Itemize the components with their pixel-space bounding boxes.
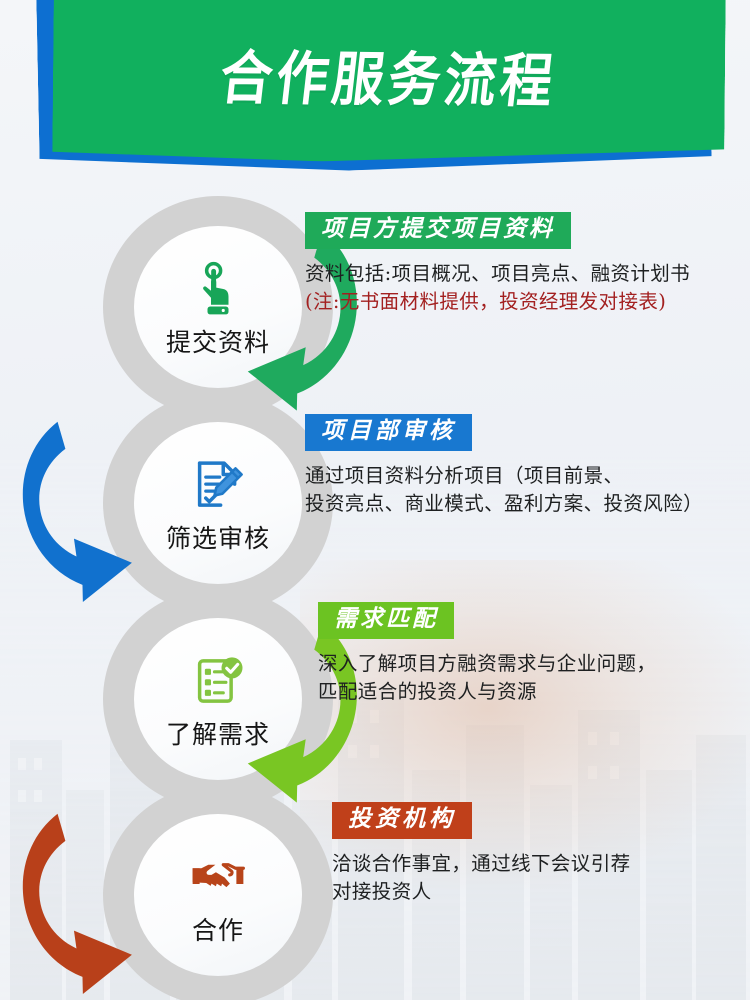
step-note-text: (注:无书面材料提供，投资经理发对接表)	[305, 288, 750, 316]
hand-click-icon	[190, 261, 246, 317]
page-title-text: 合作服务流程	[216, 30, 562, 117]
step-circle-label: 合作	[192, 911, 244, 947]
step-body-text: 通过项目资料分析项目（项目前景、 投资亮点、商业模式、盈利方案、投资风险）	[305, 462, 750, 519]
step-badge: 需求匹配	[318, 602, 454, 639]
process-step-2: 筛选审核 项目部审核 通过项目资料分析项目（项目前景、 投资亮点、商业模式、盈利…	[0, 392, 750, 588]
process-step-4: 合作 投资机构 洽谈合作事宜，通过线下会议引荐 对接投资人	[0, 784, 750, 980]
step-text-block-1: 项目方提交项目资料 资料包括:项目概况、项目亮点、融资计划书 (注:无书面材料提…	[305, 212, 750, 316]
step-badge: 投资机构	[332, 802, 472, 839]
step-body-text: 资料包括:项目概况、项目亮点、融资计划书	[305, 260, 750, 288]
document-pencil-icon	[190, 457, 246, 513]
process-steps: 提交资料 项目方提交项目资料 资料包括:项目概况、项目亮点、融资计划书 (注:无…	[0, 196, 750, 980]
checklist-check-icon	[190, 653, 246, 709]
step-circle-label: 筛选审核	[166, 519, 270, 555]
header-banner: 合作服务流程	[0, 0, 750, 200]
step-circle-3: 了解需求	[134, 618, 302, 780]
step-circle-4: 合作	[134, 814, 302, 976]
step-body-text: 洽谈合作事宜，通过线下会议引荐 对接投资人	[332, 850, 750, 907]
step-circle-1: 提交资料	[134, 226, 302, 388]
step-badge: 项目部审核	[305, 414, 472, 451]
step-text-block-4: 投资机构 洽谈合作事宜，通过线下会议引荐 对接投资人	[332, 802, 750, 906]
step-circle-label: 了解需求	[166, 715, 270, 751]
process-step-1: 提交资料 项目方提交项目资料 资料包括:项目概况、项目亮点、融资计划书 (注:无…	[0, 196, 750, 392]
step-text-block-3: 需求匹配 深入了解项目方融资需求与企业问题， 匹配适合的投资人与资源	[318, 602, 750, 706]
step-circle-label: 提交资料	[166, 323, 270, 359]
step-circle-2: 筛选审核	[134, 422, 302, 584]
step-text-block-2: 项目部审核 通过项目资料分析项目（项目前景、 投资亮点、商业模式、盈利方案、投资…	[305, 414, 750, 518]
process-step-3: 了解需求 需求匹配 深入了解项目方融资需求与企业问题， 匹配适合的投资人与资源	[0, 588, 750, 784]
infographic-page: 合作服务流程 提交资料 项目方提交项目资料 资料包括	[0, 0, 750, 1000]
step-badge: 项目方提交项目资料	[305, 212, 571, 249]
step-body-text: 深入了解项目方融资需求与企业问题， 匹配适合的投资人与资源	[318, 650, 750, 707]
handshake-icon	[190, 849, 246, 905]
page-title: 合作服务流程	[52, 0, 726, 165]
